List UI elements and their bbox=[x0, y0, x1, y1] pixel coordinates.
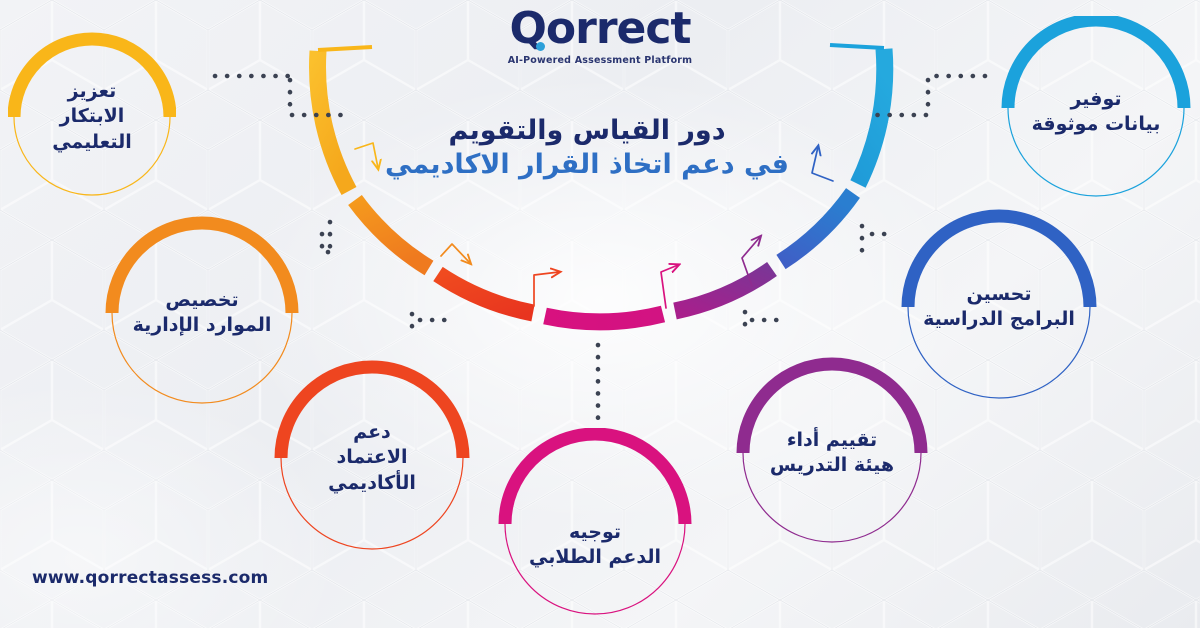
title-line-2: في دعم اتخاذ القرار الاكاديمي bbox=[352, 148, 822, 182]
node-accreditation[interactable]: دعم الاعتماد الأكاديمي bbox=[273, 358, 471, 558]
arc-segment-purple bbox=[675, 269, 772, 311]
arc-segment-blue bbox=[781, 193, 853, 262]
node-innovation-label: تعزيز الابتكار التعليمي bbox=[46, 79, 138, 154]
node-student-support-label: توجيه الدعم الطلابي bbox=[523, 520, 667, 570]
arrow-orange bbox=[441, 244, 470, 263]
arrow-magenta bbox=[661, 265, 678, 308]
arc-segment-cyan bbox=[858, 49, 885, 184]
node-trusted-data[interactable]: توفير بيانات موثوقة bbox=[1000, 16, 1192, 208]
arc-segment-orange bbox=[355, 200, 429, 268]
node-accreditation-label: دعم الاعتماد الأكاديمي bbox=[322, 420, 422, 495]
node-curricula-label: تحسين البرامج الدراسية bbox=[917, 282, 1081, 332]
node-trusted-data-label: توفير بيانات موثوقة bbox=[1026, 87, 1167, 137]
arc-segment-magenta bbox=[545, 314, 663, 322]
node-student-support[interactable]: توجيه الدعم الطلابي bbox=[495, 428, 695, 628]
title-line-1: دور القياس والتقويم bbox=[352, 114, 822, 148]
node-faculty-performance-label: تقييم أداء هيئة التدريس bbox=[764, 428, 900, 478]
arc-segment-yellow bbox=[318, 51, 349, 191]
node-admin-resources-label: تخصيص الموارد الإدارية bbox=[127, 288, 278, 338]
arc-segment-red bbox=[438, 274, 533, 313]
node-innovation[interactable]: تعزيز الابتكار التعليمي bbox=[8, 22, 176, 212]
logo-wordmark: Qorrect bbox=[510, 6, 691, 52]
node-curricula[interactable]: تحسين البرامج الدراسية bbox=[900, 208, 1098, 406]
page-title: دور القياس والتقويم في دعم اتخاذ القرار … bbox=[352, 114, 822, 182]
node-admin-resources[interactable]: تخصيص الموارد الإدارية bbox=[104, 215, 300, 411]
footer-website-url[interactable]: www.qorrectassess.com bbox=[32, 568, 268, 588]
logo-accent-dot-icon bbox=[536, 42, 545, 51]
infographic-canvas: Qorrect AI-Powered Assessment Platform د… bbox=[0, 0, 1200, 628]
arrow-red bbox=[534, 272, 559, 306]
